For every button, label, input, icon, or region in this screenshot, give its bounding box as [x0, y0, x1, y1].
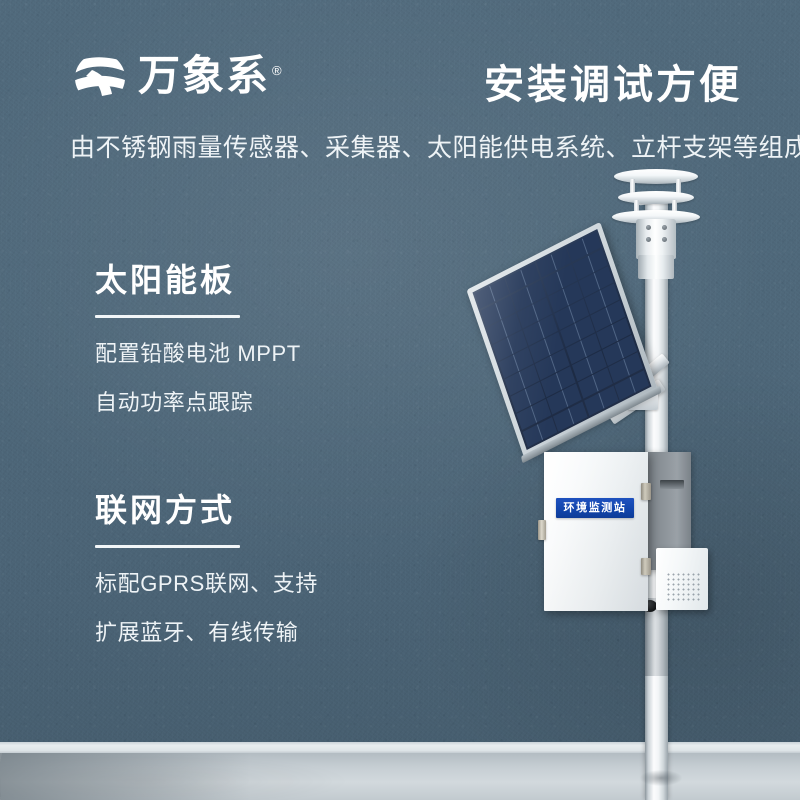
feature-line: 标配GPRS联网、支持	[95, 566, 318, 598]
feature-block-solar-panel: 太阳能板 配置铅酸电池 MPPT 自动功率点跟踪	[95, 255, 301, 434]
feature-divider	[95, 315, 240, 318]
brand-name-text: 万象系	[138, 52, 270, 99]
page-subtitle: 由不锈钢雨量传感器、采集器、太阳能供电系统、立杆支架等组成	[70, 128, 786, 164]
brand-name: 万象系®	[138, 48, 284, 104]
feature-block-connectivity: 联网方式 标配GPRS联网、支持 扩展蓝牙、有线传输	[95, 485, 318, 664]
feature-title: 联网方式	[95, 485, 318, 531]
floor-shadow-left	[0, 753, 250, 800]
product-marketing-banner: 环境监测站 万象系® 安装调试方便 由不锈钢雨量传感器、采集器、太阳能	[0, 0, 800, 800]
feature-line: 配置铅酸电池 MPPT	[95, 336, 301, 368]
feature-line: 自动功率点跟踪	[95, 385, 301, 417]
feature-title: 太阳能板	[95, 255, 301, 301]
trademark-symbol: ®	[272, 63, 284, 78]
brand-swoosh-icon	[72, 50, 128, 106]
feature-divider	[95, 545, 240, 548]
page-headline: 安装调试方便	[484, 52, 742, 110]
brand-logo: 万象系®	[72, 48, 284, 106]
feature-line: 扩展蓝牙、有线传输	[95, 615, 318, 647]
